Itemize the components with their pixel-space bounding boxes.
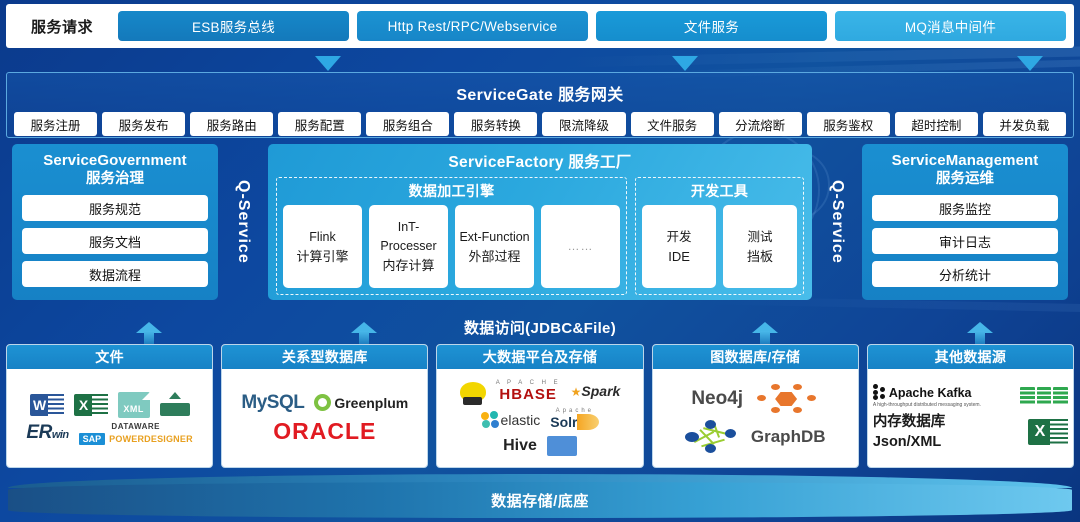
card-body-rdbms: MySQL Greenplum ORACLE — [222, 369, 427, 467]
data-source-card-files[interactable]: 文件 W X XML ERwin DATAWARE SAP — [6, 344, 213, 468]
hbase-logo-text: HBASE — [499, 386, 557, 403]
architecture-diagram: 服务请求 ESB服务总线 Http Rest/RPC/Webservice 文件… — [0, 0, 1080, 522]
data-source-card-bigdata[interactable]: 大数据平台及存储 A P A C H E HBASE ★Spark — [436, 344, 643, 468]
word-icon: W — [30, 392, 64, 418]
graphdb-dots-icon — [753, 382, 819, 416]
gate-chip-service-route[interactable]: 服务路由 — [190, 112, 273, 136]
gate-chip-circuit-breaker[interactable]: 分流熔断 — [719, 112, 802, 136]
service-gate-chip-row: 服务注册 服务发布 服务路由 服务配置 服务组合 服务转换 限流降级 文件服务 … — [7, 105, 1073, 136]
service-gate-panel: ServiceGate 服务网关 服务注册 服务发布 服务路由 服务配置 服务组… — [6, 72, 1074, 138]
service-management-title-en: ServiceManagement — [872, 152, 1058, 170]
data-access-bar: 数据访问(JDBC&File) — [6, 310, 1074, 344]
engine-tile-flink-l1: Flink — [309, 228, 335, 247]
request-button-file-service[interactable]: 文件服务 — [596, 11, 827, 41]
q-service-label-right: Q-Service — [818, 144, 856, 300]
hive-logo: Hive — [503, 437, 537, 455]
neo4j-logo: Neo4j — [691, 388, 743, 410]
engine-tile-int-processer-l2: 内存计算 — [383, 256, 435, 275]
excel-icon: X — [74, 392, 108, 418]
base-banner-label: 数据存储/底座 — [491, 490, 589, 511]
engine-tile-flink[interactable]: Flink 计算引擎 — [283, 205, 362, 288]
management-item-analysis-stats[interactable]: 分析统计 — [872, 261, 1058, 287]
down-arrow-icon — [1017, 56, 1043, 71]
card-body-other: Apache Kafka A high-throughput distribut… — [868, 369, 1073, 467]
request-button-esb[interactable]: ESB服务总线 — [118, 11, 349, 41]
service-request-title: 服务请求 — [14, 16, 110, 37]
data-source-card-graphdb[interactable]: 图数据库/存储 Neo4j — [652, 344, 859, 468]
kafka-logo-text: Apache Kafka — [889, 386, 972, 400]
governance-item-service-doc[interactable]: 服务文档 — [22, 228, 208, 254]
engine-tile-row: Flink 计算引擎 InT-Processer 内存计算 Ext-Functi… — [283, 205, 620, 288]
mysql-logo: MySQL — [241, 392, 304, 414]
data-storage-base-banner: 数据存储/底座 — [8, 474, 1072, 518]
governance-item-service-spec[interactable]: 服务规范 — [22, 195, 208, 221]
hive-doc-icon — [547, 436, 577, 456]
green-grid-icon — [1020, 387, 1068, 405]
bigdata-logo-row-3: Hive — [442, 436, 637, 456]
data-access-label: 数据访问(JDBC&File) — [464, 317, 616, 338]
data-source-cards: 文件 W X XML ERwin DATAWARE SAP — [6, 344, 1074, 468]
down-arrow-icon — [672, 56, 698, 71]
service-factory-panel: ServiceFactory 服务工厂 数据加工引擎 Flink 计算引擎 In… — [268, 144, 812, 300]
spark-logo: ★Spark — [571, 383, 621, 401]
service-management-title-cn: 服务运维 — [872, 170, 1058, 189]
card-title-rdbms: 关系型数据库 — [222, 345, 427, 369]
service-factory-title: ServiceFactory 服务工厂 — [276, 150, 804, 172]
data-processing-engine-title: 数据加工引擎 — [283, 181, 620, 201]
management-item-audit-log[interactable]: 审计日志 — [872, 228, 1058, 254]
greenplum-mark-icon — [314, 394, 331, 411]
kafka-dots-icon — [873, 384, 887, 400]
dev-tool-ide-l2: IDE — [668, 247, 690, 266]
q-service-right-text: Q-Service — [828, 180, 846, 264]
other-text-group: 内存数据库 Json/XML — [873, 412, 946, 452]
dev-tool-test-l2: 挡板 — [747, 247, 773, 266]
dev-tool-tile-test-mock[interactable]: 测试 挡板 — [723, 205, 797, 288]
middle-band: ServiceGovernment 服务治理 服务规范 服务文档 数据流程 Q-… — [6, 142, 1074, 306]
engine-tile-more[interactable]: …… — [541, 205, 620, 288]
card-title-files: 文件 — [7, 345, 212, 369]
elastic-logo: elastic — [481, 411, 541, 430]
down-arrow-icon — [315, 56, 341, 71]
card-body-files: W X XML ERwin DATAWARE SAP POWERDESIGNER — [7, 369, 212, 467]
engine-tile-int-processer-l1: InT-Processer — [371, 218, 446, 256]
gate-chip-service-config[interactable]: 服务配置 — [278, 112, 361, 136]
file-logo-row-top: W X XML — [12, 392, 207, 418]
excel-icon: X — [1028, 417, 1068, 447]
card-title-other: 其他数据源 — [868, 345, 1073, 369]
dev-tools-tile-row: 开发 IDE 测试 挡板 — [642, 205, 797, 288]
governance-item-data-flow[interactable]: 数据流程 — [22, 261, 208, 287]
powerdesigner-logo: POWERDESIGNER — [109, 434, 193, 444]
management-item-service-monitor[interactable]: 服务监控 — [872, 195, 1058, 221]
base-banner-body: 数据存储/底座 — [8, 482, 1072, 518]
greenplum-logo-text: Greenplum — [334, 395, 408, 411]
gate-chip-service-auth[interactable]: 服务鉴权 — [807, 112, 890, 136]
card-body-graphdb: Neo4j — [653, 369, 858, 467]
card-title-bigdata: 大数据平台及存储 — [437, 345, 642, 369]
dev-tools-title: 开发工具 — [642, 181, 797, 201]
gate-chip-service-publish[interactable]: 服务发布 — [102, 112, 185, 136]
solr-logo: Apache Solr — [550, 408, 599, 432]
engine-tile-flink-l2: 计算引擎 — [297, 247, 349, 266]
elastic-dots-icon — [481, 411, 501, 429]
gate-chip-concurrency-load[interactable]: 并发负载 — [983, 112, 1066, 136]
gate-chip-file-service[interactable]: 文件服务 — [631, 112, 714, 136]
elastic-logo-text: elastic — [501, 412, 541, 428]
dev-tools-group: 开发工具 开发 IDE 测试 挡板 — [635, 177, 804, 295]
graphdb-logo-row-2: GraphDB — [658, 420, 853, 454]
bigdata-logo-row-1: A P A C H E HBASE ★Spark — [442, 380, 637, 404]
engine-tile-ext-function-l2: 外部过程 — [469, 247, 521, 266]
engine-tile-more-dots: …… — [568, 237, 594, 256]
file-logo-row-bottom: ERwin DATAWARE SAP POWERDESIGNER — [12, 422, 207, 445]
data-source-card-other[interactable]: 其他数据源 Apache Kafka A high-throughput dis… — [867, 344, 1074, 468]
memory-db-label: 内存数据库 — [873, 412, 946, 432]
greenplum-logo: Greenplum — [314, 394, 408, 411]
q-service-left-text: Q-Service — [234, 180, 252, 264]
sap-powerdesigner-row: SAP POWERDESIGNER — [79, 433, 193, 445]
gate-chip-service-transform[interactable]: 服务转换 — [454, 112, 537, 136]
sap-dataware-group: DATAWARE SAP POWERDESIGNER — [79, 422, 193, 445]
graphdb-logo: GraphDB — [751, 427, 826, 447]
gate-chip-timeout-control[interactable]: 超时控制 — [895, 112, 978, 136]
gate-chip-service-register[interactable]: 服务注册 — [14, 112, 97, 136]
data-source-card-rdbms[interactable]: 关系型数据库 MySQL Greenplum ORACLE — [221, 344, 428, 468]
service-gate-title: ServiceGate 服务网关 — [7, 73, 1073, 105]
dev-tool-tile-ide[interactable]: 开发 IDE — [642, 205, 716, 288]
service-management-panel: ServiceManagement 服务运维 服务监控 审计日志 分析统计 — [862, 144, 1068, 300]
kafka-logo: Apache Kafka A high-throughput distribut… — [873, 384, 981, 408]
dev-tool-test-l1: 测试 — [748, 228, 773, 247]
solr-logo-text: Solr — [550, 414, 577, 430]
request-button-http-rest[interactable]: Http Rest/RPC/Webservice — [357, 11, 588, 41]
background-swoosh — [560, 47, 1080, 68]
spark-star-icon: ★ — [571, 385, 582, 399]
q-service-label-left: Q-Service — [224, 144, 262, 300]
card-title-graphdb: 图数据库/存储 — [653, 345, 858, 369]
bigdata-logo-row-2: elastic Apache Solr — [442, 408, 637, 432]
service-factory-body: 数据加工引擎 Flink 计算引擎 InT-Processer 内存计算 Ext… — [276, 177, 804, 295]
dev-tool-ide-l1: 开发 — [667, 228, 692, 247]
erwin-logo-text: ER — [26, 422, 51, 443]
service-request-bar: 服务请求 ESB服务总线 Http Rest/RPC/Webservice 文件… — [6, 4, 1074, 48]
service-government-panel: ServiceGovernment 服务治理 服务规范 服务文档 数据流程 — [12, 144, 218, 300]
hbase-logo: A P A C H E HBASE — [496, 380, 561, 404]
neo4j-graph-icon — [685, 420, 741, 454]
hive-bee-icon — [460, 382, 486, 402]
service-government-title-en: ServiceGovernment — [22, 152, 208, 170]
rdbms-logo-row-bottom: ORACLE — [227, 418, 422, 445]
graphdb-logo-row-1: Neo4j — [658, 382, 853, 416]
service-government-title-cn: 服务治理 — [22, 170, 208, 189]
sap-logo: SAP — [79, 433, 106, 445]
xml-file-icon: XML — [118, 392, 150, 418]
other-logo-row-bottom: 内存数据库 Json/XML X — [873, 412, 1068, 452]
card-body-bigdata: A P A C H E HBASE ★Spark elas — [437, 369, 642, 467]
dataware-logo: DATAWARE — [111, 422, 160, 431]
other-logo-row-top: Apache Kafka A high-throughput distribut… — [873, 384, 1068, 408]
rdbms-logo-row-top: MySQL Greenplum — [227, 392, 422, 414]
engine-tile-ext-function-l1: Ext-Function — [459, 228, 529, 247]
erwin-logo: ERwin — [26, 422, 68, 444]
gate-chip-service-compose[interactable]: 服务组合 — [366, 112, 449, 136]
data-processing-engine-group: 数据加工引擎 Flink 计算引擎 InT-Processer 内存计算 Ext… — [276, 177, 627, 295]
database-icon — [160, 392, 190, 418]
engine-tile-int-processer[interactable]: InT-Processer 内存计算 — [369, 205, 448, 288]
kafka-logo-subtext: A high-throughput distributed messaging … — [873, 402, 981, 408]
gate-chip-rate-limit[interactable]: 限流降级 — [542, 112, 625, 136]
erwin-logo-sub: win — [52, 429, 69, 441]
mysql-logo-text: MySQL — [241, 392, 304, 413]
engine-tile-ext-function[interactable]: Ext-Function 外部过程 — [455, 205, 534, 288]
oracle-logo: ORACLE — [273, 418, 376, 445]
json-xml-label: Json/XML — [873, 432, 946, 452]
solr-sun-icon — [577, 414, 599, 430]
request-button-mq[interactable]: MQ消息中间件 — [835, 11, 1066, 41]
spark-logo-text: Spark — [581, 383, 620, 399]
